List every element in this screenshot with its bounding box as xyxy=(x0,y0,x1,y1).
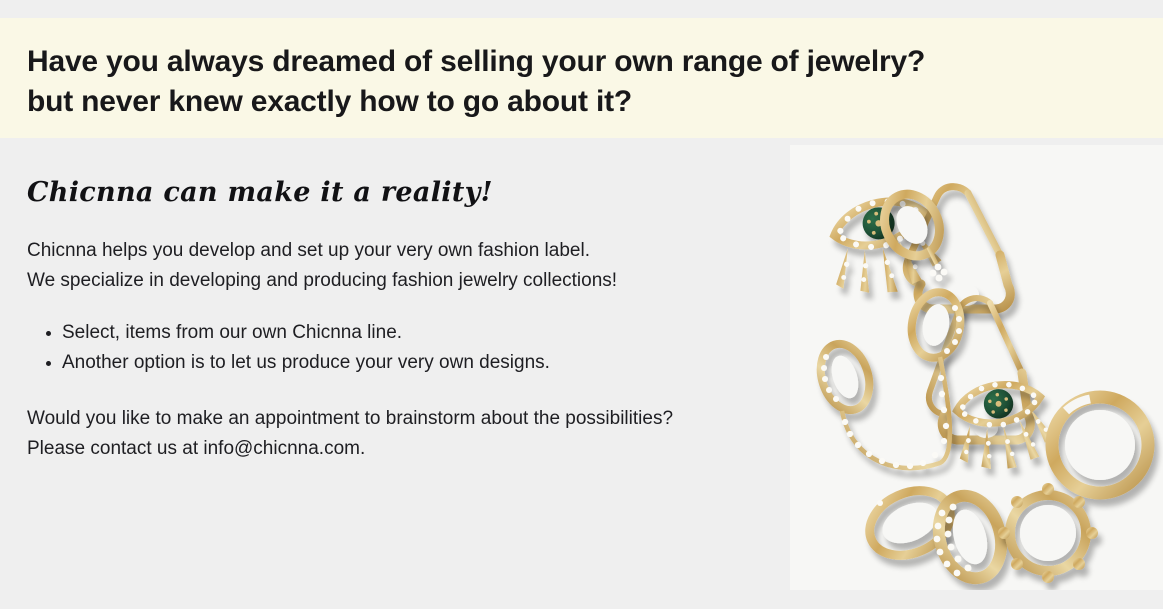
jewelry-photo xyxy=(790,145,1163,590)
outro-paragraph: Would you like to make an appointment to… xyxy=(27,404,827,464)
headline-banner: Have you always dreamed of selling your … xyxy=(0,18,1163,138)
plain-hoop xyxy=(1052,397,1148,493)
list-item: Another option is to let us produce your… xyxy=(62,348,622,378)
offer-list: Select, items from our own Chicnna line.… xyxy=(27,318,827,378)
outro-line-2: Please contact us at info@chicnna.com. xyxy=(27,434,827,464)
list-item: Select, items from our own Chicnna line. xyxy=(62,318,622,348)
content-column: Chicnna can make it a reality! Chicnna h… xyxy=(27,176,827,464)
outro-line-1: Would you like to make an appointment to… xyxy=(27,404,827,434)
intro-line-1: Chicnna helps you develop and set up you… xyxy=(27,236,827,266)
headline-line-1: Have you always dreamed of selling your … xyxy=(27,42,1163,82)
jewelry-photo-illustration xyxy=(790,145,1163,590)
beaded-hoop xyxy=(998,483,1098,583)
intro-paragraph: Chicnna helps you develop and set up you… xyxy=(27,236,827,296)
intro-line-2: We specialize in developing and producin… xyxy=(27,266,827,296)
tagline: Chicnna can make it a reality! xyxy=(27,176,827,210)
hoop-stone xyxy=(877,500,883,506)
page-root: Have you always dreamed of selling your … xyxy=(0,0,1163,609)
headline-line-2: but never knew exactly how to go about i… xyxy=(27,82,1163,122)
